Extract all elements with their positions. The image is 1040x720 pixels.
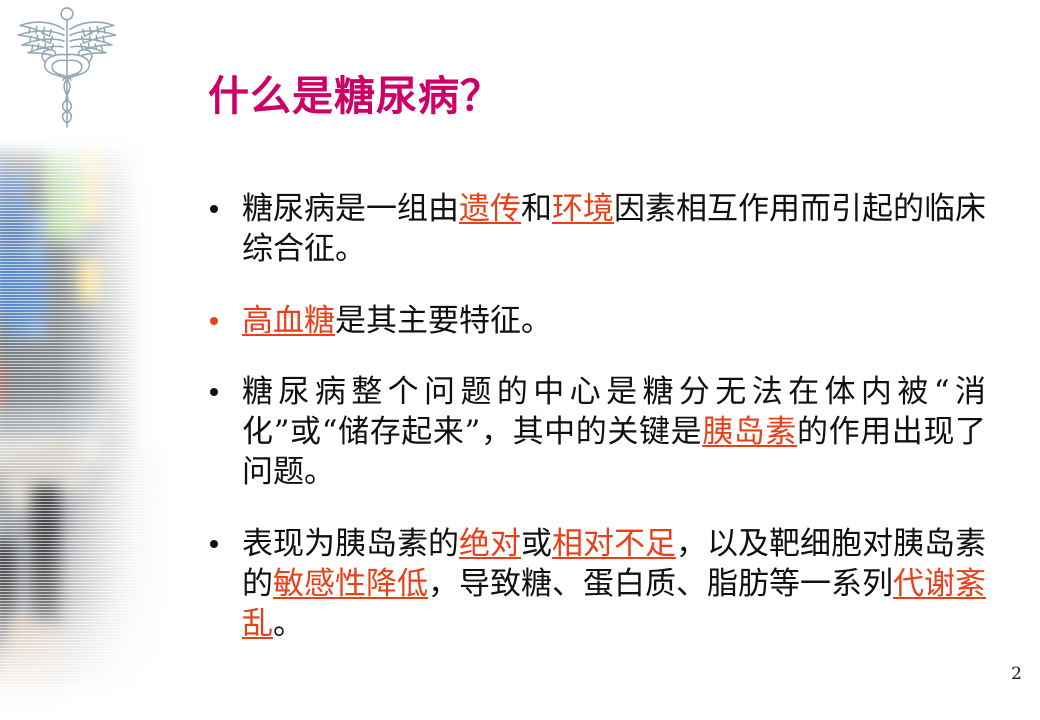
highlighted-term: 环境: [552, 191, 614, 227]
bullet-text: 。: [273, 606, 304, 642]
bullet-item: 高血糖是其主要特征。: [196, 301, 986, 341]
bullet-item: 糖尿病整个问题的中心是糖分无法在体内被“消化”或“储存起来”，其中的关键是胰岛素…: [196, 372, 986, 493]
bullet-item: 糖尿病是一组由遗传和环境因素相互作用而引起的临床综合征。: [196, 189, 986, 270]
page-number: 2: [1011, 664, 1022, 684]
bullet-text: 是其主要特征。: [335, 303, 552, 339]
bullet-text: 和: [521, 191, 552, 227]
bullet-marker-icon: [210, 388, 218, 396]
bullet-text: 糖尿病是一组由: [242, 191, 459, 227]
highlighted-term: 胰岛素: [702, 414, 797, 450]
highlighted-term: 相对不足: [552, 526, 676, 562]
decorative-sidebar: [0, 0, 215, 720]
highlighted-term: 绝对: [459, 526, 521, 562]
highlighted-term: 遗传: [459, 191, 521, 227]
highlighted-term: 敏感性降低: [273, 566, 428, 602]
bullet-list: 糖尿病是一组由遗传和环境因素相互作用而引起的临床综合征。高血糖是其主要特征。糖尿…: [196, 158, 986, 661]
page-title: 什么是糖尿病？: [208, 62, 502, 122]
bullet-marker-icon: [210, 317, 218, 325]
highlighted-term: 高血糖: [242, 303, 335, 339]
bullet-text: 或: [521, 526, 552, 562]
bullet-marker-icon: [210, 540, 218, 548]
bullet-marker-icon: [210, 205, 218, 213]
photo-vertical-fade-overlay: [0, 0, 215, 720]
slide-canvas: 什么是糖尿病？ 糖尿病是一组由遗传和环境因素相互作用而引起的临床综合征。高血糖是…: [0, 0, 1040, 720]
bullet-text: ，导致糖、蛋白质、脂肪等一系列: [428, 566, 893, 602]
blurred-medical-photo: [0, 150, 180, 690]
caduceus-icon: [8, 4, 126, 129]
bullet-text: 表现为胰岛素的: [242, 526, 459, 562]
bullet-item: 表现为胰岛素的绝对或相对不足，以及靶细胞对胰岛素的敏感性降低，导致糖、蛋白质、脂…: [196, 524, 986, 645]
photo-fade-overlay: [0, 0, 215, 720]
scanline-texture: [0, 0, 215, 720]
